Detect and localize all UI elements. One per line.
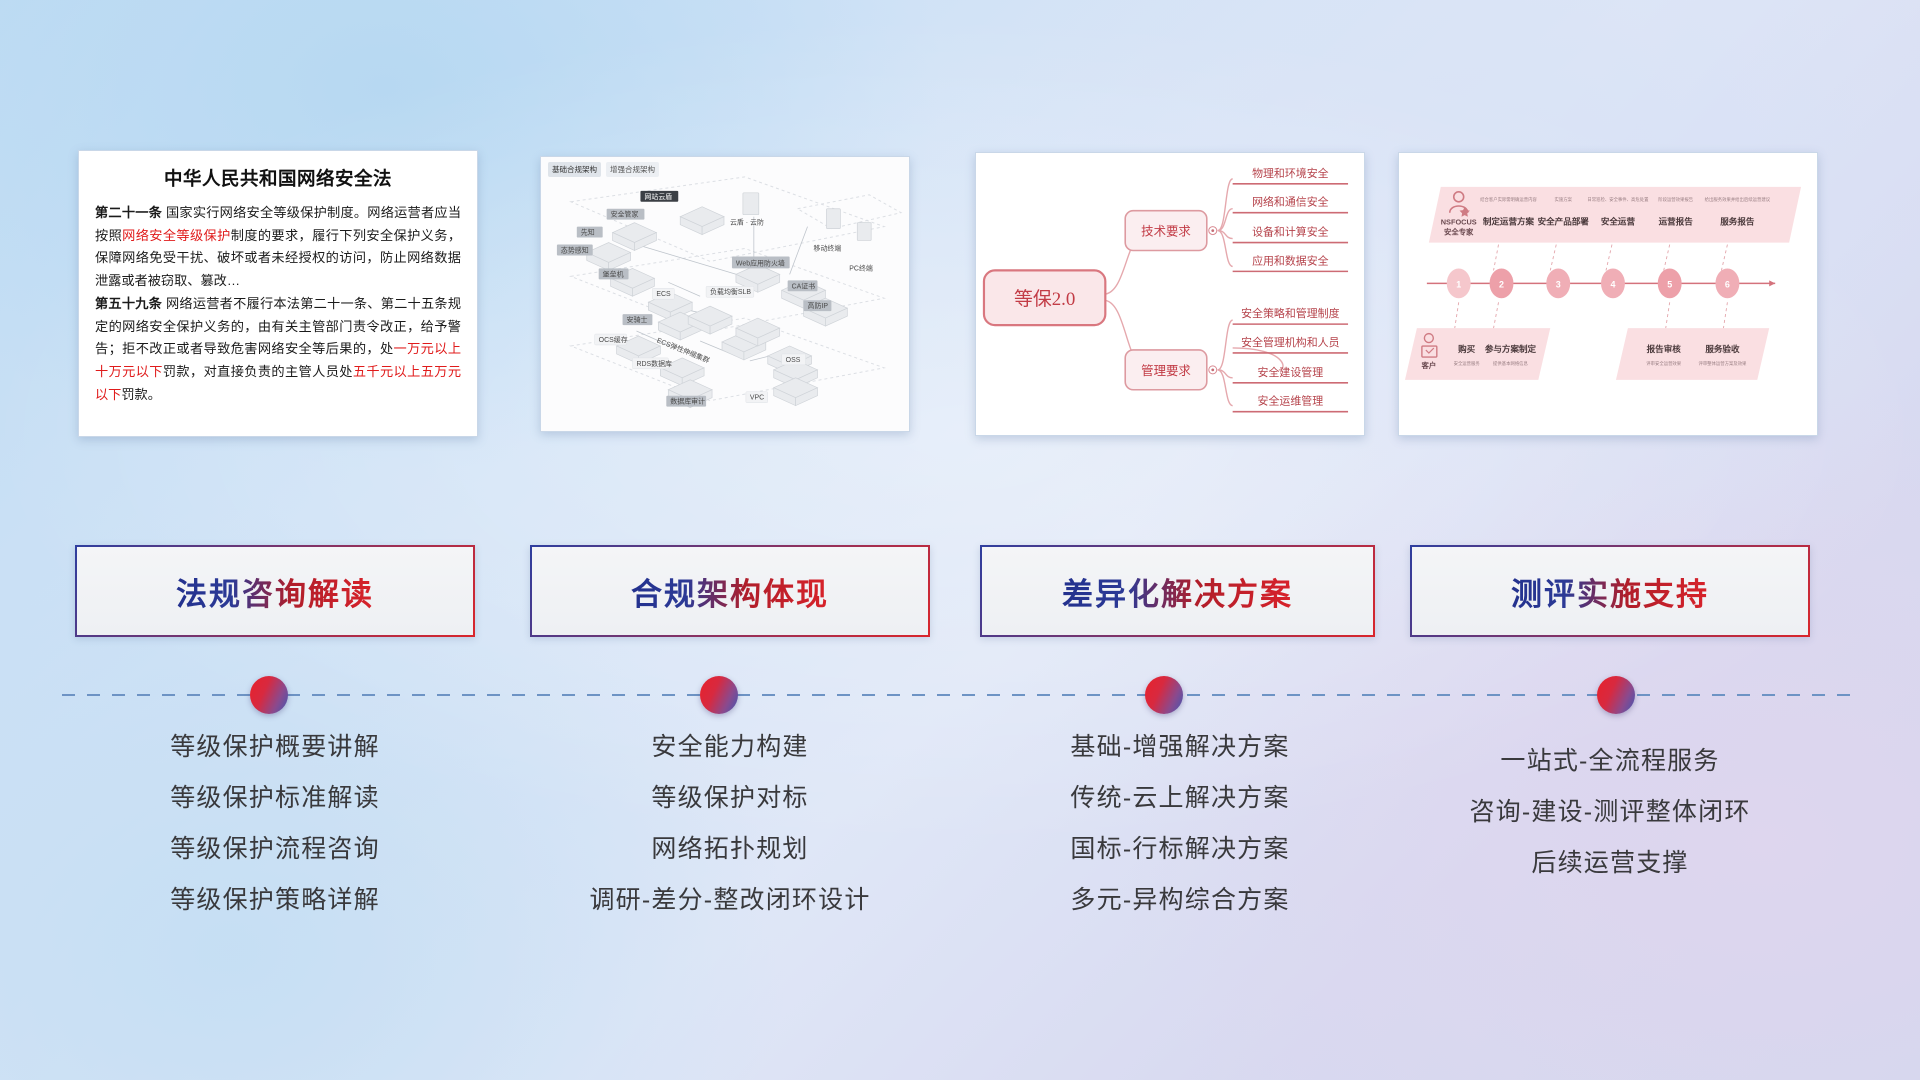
list-item: 等级保护对标 xyxy=(530,786,930,811)
list-item: 等级保护标准解读 xyxy=(75,786,475,811)
process-expert-brand: NSFOCUS xyxy=(1441,218,1477,227)
arch-label-18: PC终端 xyxy=(849,263,873,272)
law-article-59: 第五十九条 网络运营者不履行本法第二十一条、第二十五条规定的网络安全保护义务的，… xyxy=(95,293,461,407)
arch-label-11: 高防IP xyxy=(808,301,829,310)
mindmap-branch-1-label: 管理要求 xyxy=(1141,363,1191,378)
headline-label-2: 差异化解决方案 xyxy=(1062,569,1293,614)
arch-label-6: Web应用防火墙 xyxy=(736,258,785,267)
process-customer-1-title: 参与方案制定 xyxy=(1485,343,1537,354)
process-customer-1-sub: 提供基本网络信息 xyxy=(1493,360,1529,367)
mindmap-leaf-1-2: 安全建设管理 xyxy=(1258,365,1324,379)
list-item: 等级保护策略详解 xyxy=(75,888,475,913)
mindmap-leaf-1-0: 安全策略和管理制度 xyxy=(1241,306,1339,320)
mindmap-leaf-0-2: 设备和计算安全 xyxy=(1252,225,1329,239)
process-customer-0-title: 购买 xyxy=(1458,343,1476,354)
detail-list-1: 安全能力构建 等级保护对标 网络拓扑规划 调研-差分-整改闭环设计 xyxy=(530,735,930,939)
arch-label-14: 数据库审计 xyxy=(670,397,705,406)
arch-label-16: VPC xyxy=(750,395,764,402)
process-customer-3-title: 服务验收 xyxy=(1705,343,1740,354)
mindmap-leaf-1-1: 安全管理机构和人员 xyxy=(1241,335,1339,349)
process-step-4-sub: 阶段运营效果报告 xyxy=(1658,196,1694,203)
process-step-5-sub: 给出服务效果并给出后续运营建议 xyxy=(1705,196,1771,203)
process-step-2-sub: 实施方案 xyxy=(1554,196,1572,203)
process-customer-0-sub: 安全运营服务 xyxy=(1454,360,1481,367)
list-item: 国标-行标解决方案 xyxy=(980,837,1380,862)
headline-label-0: 法规咨询解读 xyxy=(176,569,374,614)
headline-box-0[interactable]: 法规咨询解读 xyxy=(75,545,475,637)
illustration-card-row: 中华人民共和国网络安全法 第二十一条 国家实行网络安全等级保护制度。网络运营者应… xyxy=(0,150,1920,450)
law-article-21-highlight: 网络安全等级保护 xyxy=(122,228,231,243)
mindmap-branch-1-toggle-dot xyxy=(1211,368,1214,371)
arch-label-1: 安全管家 xyxy=(611,210,639,219)
list-item: 传统-云上解决方案 xyxy=(980,786,1380,811)
process-customer-label: 客户 xyxy=(1420,361,1436,370)
list-item: 一站式-全流程服务 xyxy=(1410,749,1810,774)
process-customer-2-title: 报告审核 xyxy=(1647,343,1682,354)
arch-label-8: ECS xyxy=(656,291,671,298)
card-mindmap-dengbao: 等保2.0 技术要求 物理和环境安全 网络和通信安全 设备和计算安全 应用和数据… xyxy=(975,152,1365,436)
arch-label-5: 云盾 · 云防 xyxy=(730,218,764,227)
list-item: 多元-异构综合方案 xyxy=(980,888,1380,913)
card-cloud-architecture: 基础合规架构 增强合规架构 xyxy=(540,156,910,432)
law-article-21-label: 第二十一条 xyxy=(95,205,162,220)
mindmap-root-label: 等保2.0 xyxy=(1014,288,1075,310)
law-article-21: 第二十一条 国家实行网络安全等级保护制度。网络运营者应当按照网络安全等级保护制度… xyxy=(95,202,461,293)
arch-label-0: 网站云盾 xyxy=(644,192,672,201)
detail-list-2: 基础-增强解决方案 传统-云上解决方案 国标-行标解决方案 多元-异构综合方案 xyxy=(980,735,1380,939)
arch-label-9: 安骑士 xyxy=(627,315,648,324)
headline-box-3[interactable]: 测评实施支持 xyxy=(1410,545,1810,637)
list-item: 调研-差分-整改闭环设计 xyxy=(530,888,930,913)
card-process-timeline: NSFOCUS 安全专家 结合客户实际需明确运营内容 制定运营方案 实施方案 安… xyxy=(1398,152,1818,436)
arch-label-17: 移动终端 xyxy=(814,243,842,252)
process-node-5-number: 5 xyxy=(1667,279,1672,289)
mindmap-branch-0-toggle-dot xyxy=(1211,229,1214,232)
process-step-4-title: 运营报告 xyxy=(1659,216,1694,227)
timeline-dashed-line xyxy=(62,694,1852,696)
process-step-2-title: 安全产品部署 xyxy=(1538,216,1590,227)
headline-box-1[interactable]: 合规架构体现 xyxy=(530,545,930,637)
headline-label-1: 合规架构体现 xyxy=(631,569,829,614)
timeline-marker-2[interactable] xyxy=(1145,676,1183,714)
mindmap-leaf-0-0: 物理和环境安全 xyxy=(1252,166,1329,180)
process-customer-3-sub: 评审整体运营方案及效果 xyxy=(1698,360,1747,367)
process-step-3-title: 安全运营 xyxy=(1601,216,1636,227)
process-node-4-number: 4 xyxy=(1610,279,1615,289)
process-node-6-number: 6 xyxy=(1725,279,1730,289)
list-item: 等级保护流程咨询 xyxy=(75,837,475,862)
law-article-59-label: 第五十九条 xyxy=(95,296,162,311)
detail-list-0: 等级保护概要讲解 等级保护标准解读 等级保护流程咨询 等级保护策略详解 xyxy=(75,735,475,939)
timeline-marker-3[interactable] xyxy=(1597,676,1635,714)
arch-label-7: 负载均衡SLB xyxy=(710,287,751,296)
list-item: 咨询-建设-测评整体闭环 xyxy=(1410,800,1810,825)
detail-list-3: 一站式-全流程服务 咨询-建设-测评整体闭环 后续运营支撑 xyxy=(1410,749,1810,902)
headline-box-2[interactable]: 差异化解决方案 xyxy=(980,545,1375,637)
law-title: 中华人民共和国网络安全法 xyxy=(95,165,461,191)
list-item: 安全能力构建 xyxy=(530,735,930,760)
mindmap-leaf-0-1: 网络和通信安全 xyxy=(1252,195,1329,209)
process-step-1-title: 制定运营方案 xyxy=(1483,216,1535,227)
arch-label-15: OSS xyxy=(786,357,801,364)
process-diagram: NSFOCUS 安全专家 结合客户实际需明确运营内容 制定运营方案 实施方案 安… xyxy=(1399,153,1817,436)
process-customer-banner-right xyxy=(1616,328,1769,380)
process-node-2-number: 2 xyxy=(1499,279,1504,289)
arch-label-4: 堡垒机 xyxy=(603,269,624,278)
law-article-59-text-2: 罚款，对直接负责的主管人员处 xyxy=(163,364,353,379)
list-item: 基础-增强解决方案 xyxy=(980,735,1380,760)
timeline-marker-1[interactable] xyxy=(700,676,738,714)
process-top-banner xyxy=(1429,187,1801,243)
mindmap-branch-0-label: 技术要求 xyxy=(1141,225,1191,239)
process-node-1-number: 1 xyxy=(1456,279,1461,289)
process-step-5-title: 服务报告 xyxy=(1720,216,1755,227)
process-customer-2-sub: 评审安全运营效果 xyxy=(1646,360,1682,367)
architecture-diagram: 网站云盾 安全管家 先知 态势感知 堡垒机 云盾 · 云防 Web应用防火墙 xyxy=(541,157,909,432)
arch-label-2: 先知 xyxy=(581,228,595,237)
process-expert-role: 安全专家 xyxy=(1444,228,1474,237)
list-item: 网络拓扑规划 xyxy=(530,837,930,862)
process-node-3-number: 3 xyxy=(1556,279,1561,289)
arch-label-10: CA证书 xyxy=(792,281,816,290)
process-step-1-sub: 结合客户实际需明确运营内容 xyxy=(1480,196,1537,203)
list-item: 等级保护概要讲解 xyxy=(75,735,475,760)
process-step-3-sub: 日常巡检、安全事件、高危处置 xyxy=(1587,196,1649,203)
list-item: 后续运营支撑 xyxy=(1410,851,1810,876)
headline-row: 法规咨询解读 合规架构体现 差异化解决方案 测评实施支持 xyxy=(0,545,1920,645)
headline-label-3: 测评实施支持 xyxy=(1511,569,1709,614)
mindmap-leaf-1-3: 安全运维管理 xyxy=(1258,394,1324,408)
timeline-marker-0[interactable] xyxy=(250,676,288,714)
mindmap-diagram: 等保2.0 技术要求 物理和环境安全 网络和通信安全 设备和计算安全 应用和数据… xyxy=(976,153,1364,436)
law-article-59-text-3: 罚款。 xyxy=(121,387,161,402)
arch-label-12: OCS缓存 xyxy=(599,335,628,344)
arch-label-3: 态势感知 xyxy=(561,245,589,254)
mindmap-leaf-0-3: 应用和数据安全 xyxy=(1252,253,1329,267)
arch-label-13: RDS数据库 xyxy=(636,359,672,368)
card-cybersecurity-law: 中华人民共和国网络安全法 第二十一条 国家实行网络安全等级保护制度。网络运营者应… xyxy=(78,150,478,437)
